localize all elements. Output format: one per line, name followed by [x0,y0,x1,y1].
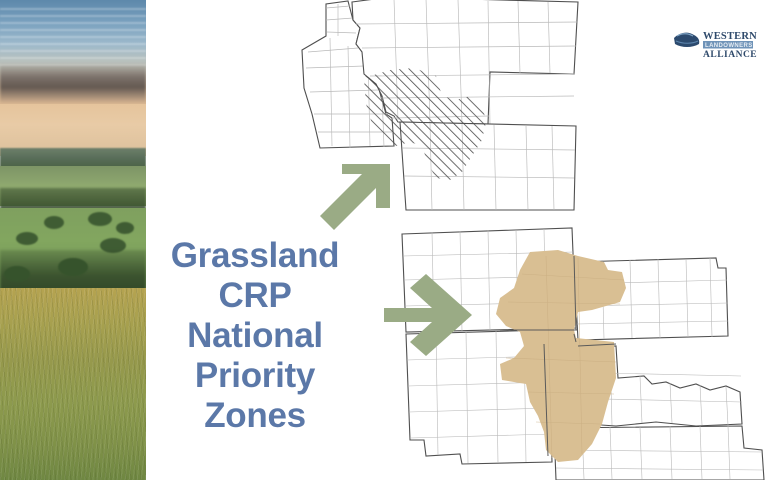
logo-line-3: ALLIANCE [703,50,757,58]
title-line-5: Zones [150,396,360,436]
photo-tree [44,216,64,229]
western-landowners-alliance-logo[interactable]: WESTERN LANDOWNERS ALLIANCE [672,26,758,58]
photo-tree [58,258,88,276]
arrow-to-northern-zone [318,160,396,236]
photo-tree [4,266,30,282]
logo-mountain-mark [674,33,699,47]
page-title: Grassland CRP National Priority Zones [150,236,360,436]
title-line-1: Grassland [150,236,360,276]
title-line-4: Priority [150,356,360,396]
photo-tree [116,222,134,234]
photo-grass-texture [0,288,146,480]
photo-cloud-streaks [0,8,146,66]
logo-line-1: WESTERN [703,31,757,42]
logo-line-2: LANDOWNERS [705,43,753,49]
grassland-photo [0,0,146,480]
title-line-3: National [150,316,360,356]
title-line-2: CRP [150,276,360,316]
photo-cloud-band [0,62,146,104]
photo-tree [88,212,112,226]
slide-canvas: Grassland CRP National Priority Zones [0,0,768,480]
arrow-to-southern-zone [384,272,476,358]
photo-tree [16,232,38,245]
